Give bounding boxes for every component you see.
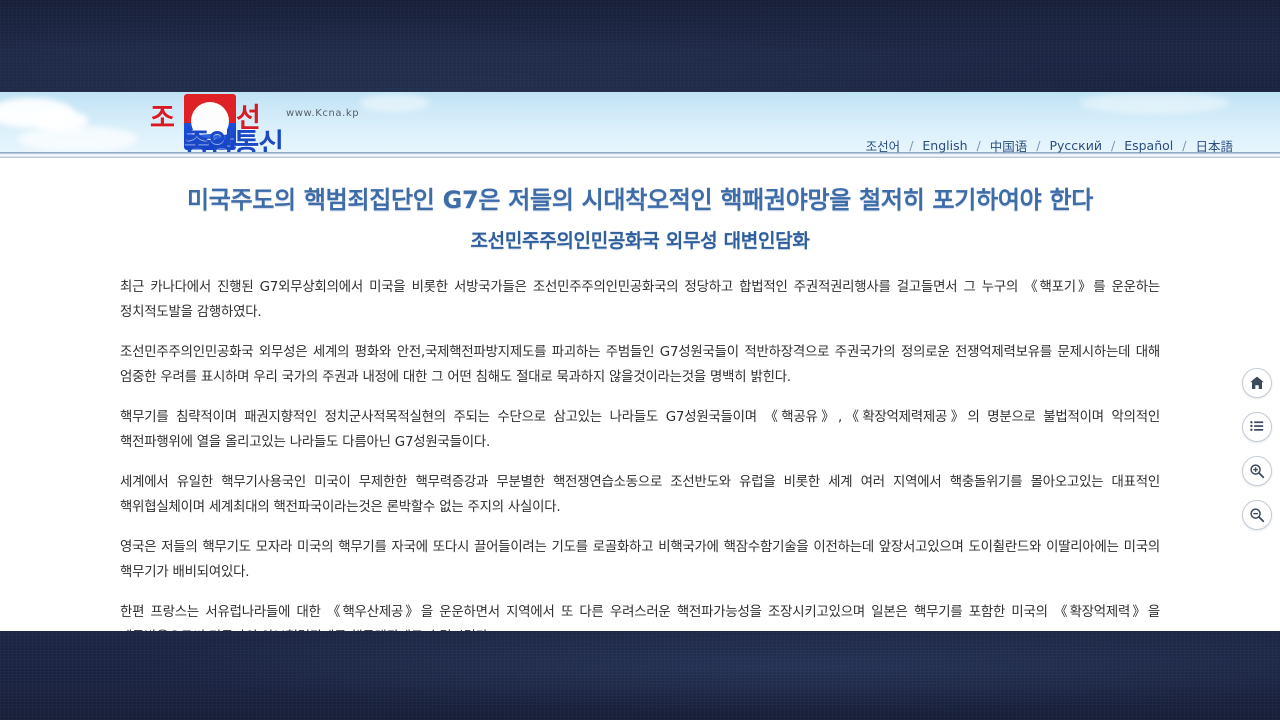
logo-url-text: www.Kcna.kp	[286, 108, 359, 119]
article-body: 최근 카나다에서 진행된 G7외무상회의에서 미국을 비롯한 서방국가들은 조선…	[120, 275, 1160, 650]
article-paragraph: 영국은 저들의 핵무기도 모자라 미국의 핵무기를 자국에 또다시 끌어들이려는…	[120, 535, 1160, 585]
article-paragraph: 최근 카나다에서 진행된 G7외무상회의에서 미국을 비롯한 서방국가들은 조선…	[120, 275, 1160, 325]
kcna-logo[interactable]: 조 선 www.Kcna.kp 중앙통신	[150, 94, 375, 156]
article-paragraph: 세계에서 유일한 핵무기사용국인 미국이 무제한한 핵무력증강과 무분별한 핵전…	[120, 470, 1160, 520]
article-headline: 미국주도의 핵범죄집단인 G7은 저들의 시대착오적인 핵패권야망을 철저히 포…	[0, 180, 1280, 215]
lang-link-zh[interactable]: 中国语	[989, 136, 1029, 155]
list-button[interactable]	[1242, 412, 1272, 442]
lang-separator: /	[1028, 138, 1048, 153]
lang-separator: /	[969, 138, 989, 153]
lang-link-ja[interactable]: 日本語	[1194, 136, 1234, 155]
zoom-in-icon	[1249, 463, 1265, 479]
lang-link-ru[interactable]: Русский	[1049, 138, 1103, 153]
floating-tool-rail	[1242, 368, 1272, 530]
lang-separator: /	[1174, 138, 1194, 153]
article-paragraph: 핵무기를 침략적이며 패권지향적인 정치군사적목적실현의 주되는 수단으로 삼고…	[120, 405, 1160, 455]
lang-link-es[interactable]: Español	[1123, 138, 1174, 153]
lang-link-en[interactable]: English	[921, 138, 968, 153]
home-button[interactable]	[1242, 368, 1272, 398]
top-chrome-band	[0, 0, 1280, 92]
lang-link-ko[interactable]: 조선어	[865, 136, 902, 155]
article-panel: 미국주도의 핵범죄집단인 G7은 저들의 시대착오적인 핵패권야망을 철저히 포…	[0, 158, 1280, 631]
zoom-out-button[interactable]	[1242, 500, 1272, 530]
home-icon	[1249, 375, 1265, 391]
cloud-decoration	[1080, 92, 1230, 114]
lang-separator: /	[1103, 138, 1123, 153]
cloud-decoration	[18, 126, 138, 152]
bottom-chrome-band	[0, 631, 1280, 720]
logo-char-cho: 조	[150, 96, 174, 135]
zoom-out-icon	[1249, 507, 1265, 523]
zoom-in-button[interactable]	[1242, 456, 1272, 486]
lang-separator: /	[901, 138, 921, 153]
article-subheadline: 조선민주주의인민공화국 외무성 대변인담화	[0, 226, 1280, 253]
list-icon	[1249, 419, 1265, 435]
article-paragraph: 조선민주주의인민공화국 외무성은 세계의 평화와 안전,국제핵전파방지제도를 파…	[120, 340, 1160, 390]
language-nav[interactable]: 조선어 / English / 中国语 / Русский / Español …	[865, 136, 1234, 155]
